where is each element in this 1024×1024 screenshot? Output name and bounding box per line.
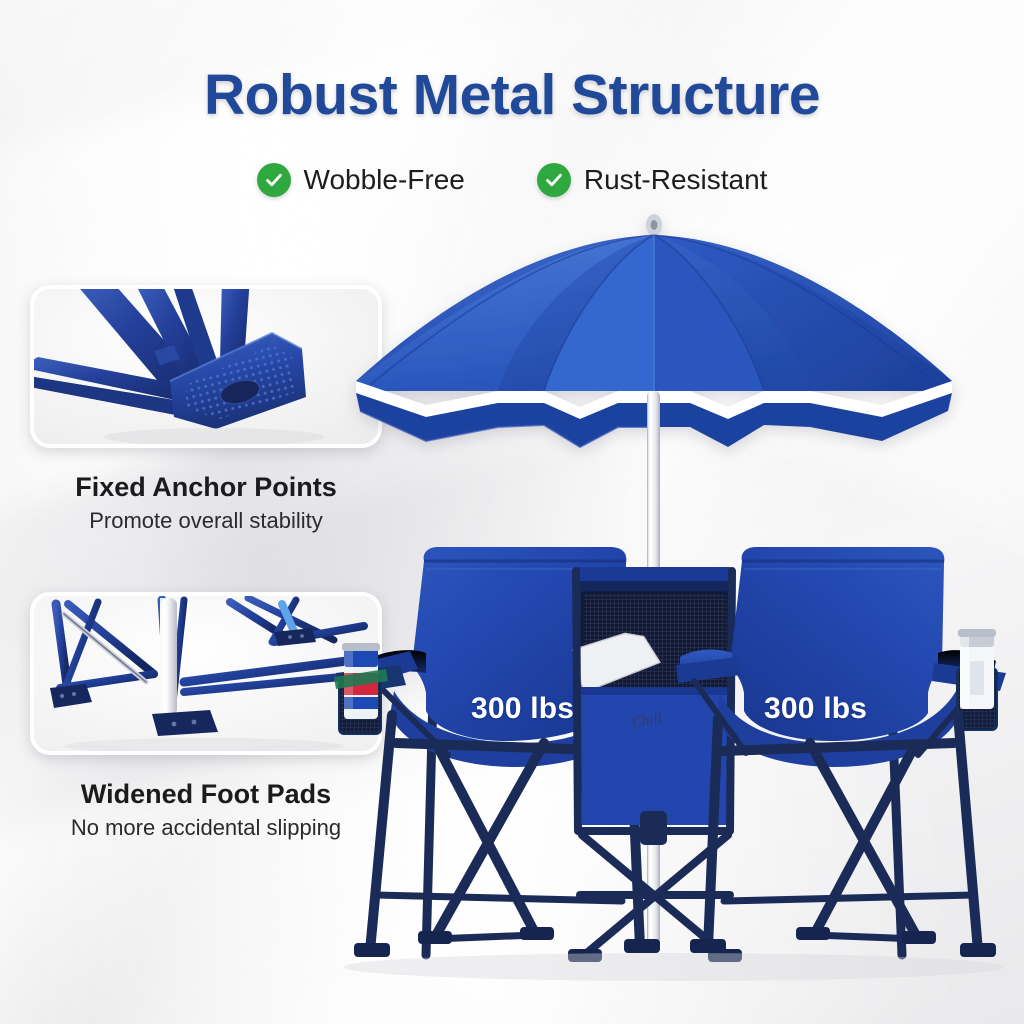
badge-label: Rust-Resistant — [584, 164, 768, 196]
product-illustration: 300 lbs 300 lbs Chill — [330, 195, 1024, 985]
infographic-canvas: Robust Metal Structure Wobble-Free Rust-… — [0, 0, 1024, 1024]
badge-rust-resistant: Rust-Resistant — [537, 163, 768, 197]
capacity-label-left: 300 lbs — [471, 692, 574, 726]
badge-wobble-free: Wobble-Free — [257, 163, 465, 197]
check-circle-icon — [537, 163, 571, 197]
feature-badge-list: Wobble-Free Rust-Resistant — [0, 163, 1024, 197]
check-circle-icon — [257, 163, 291, 197]
badge-label: Wobble-Free — [304, 164, 465, 196]
page-title: Robust Metal Structure — [0, 62, 1024, 128]
capacity-label-right: 300 lbs — [764, 692, 867, 726]
